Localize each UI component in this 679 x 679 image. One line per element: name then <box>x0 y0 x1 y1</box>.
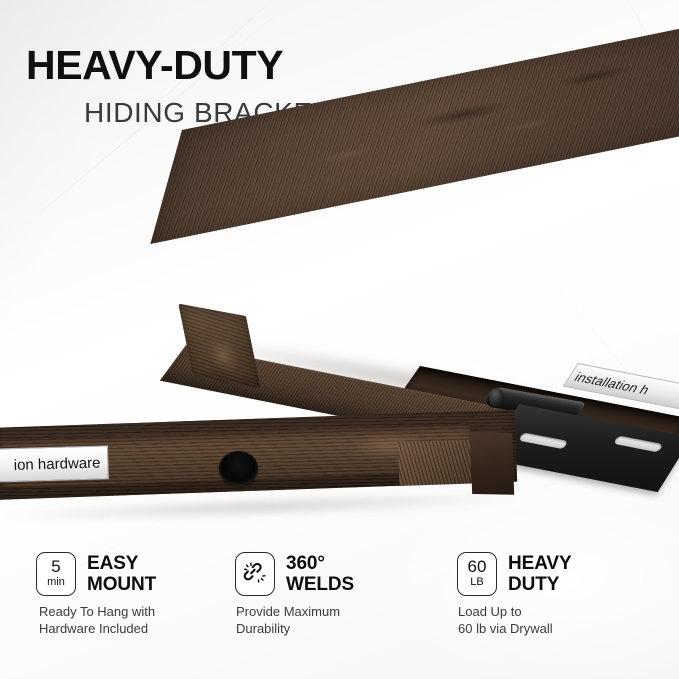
badge-unit: min <box>47 576 65 589</box>
shelf-underside-endcap <box>470 432 514 495</box>
feature-title: EASY MOUNT <box>87 553 156 596</box>
feature-easy-mount: 5 min EASY MOUNT Ready To Hang with Hard… <box>0 552 232 637</box>
label-text: installation h <box>572 369 653 397</box>
feature-description: Provide Maximum Durability <box>236 603 354 637</box>
feature-text: EASY MOUNT Ready To Hang with Hardware I… <box>87 552 156 637</box>
feature-360-welds: 360° WELDS Provide Maximum Durability <box>232 552 444 637</box>
feature-text: 360° WELDS Provide Maximum Durability <box>286 552 354 637</box>
feature-title: 360° WELDS <box>286 553 354 596</box>
shelf-underside-endgrain <box>398 439 471 485</box>
installation-hardware-label-bottom: ion hardware <box>0 445 109 483</box>
bracket-mounting-hole <box>219 451 258 486</box>
badge-unit: LB <box>470 576 483 589</box>
feature-row: 5 min EASY MOUNT Ready To Hang with Hard… <box>0 552 679 637</box>
product-infographic: HEAVY-DUTY HIDING BRACKET/ACCESSORY inst… <box>0 0 679 679</box>
shelf-hero-image: installation h <box>0 120 679 370</box>
bracket-screw-slot <box>613 436 663 453</box>
badge-value: 5 <box>51 558 60 575</box>
feature-description: Ready To Hang with Hardware Included <box>39 603 156 637</box>
chain-link-icon <box>235 552 275 596</box>
feature-text: HEAVY DUTY Load Up to 60 lb via Drywall <box>508 552 572 637</box>
feature-description: Load Up to 60 lb via Drywall <box>458 603 572 637</box>
label-text: ion hardware <box>14 454 101 473</box>
feature-title: HEAVY DUTY <box>508 553 572 596</box>
feature-heavy-duty: 60 LB HEAVY DUTY Load Up to 60 lb via Dr… <box>444 552 679 637</box>
weight-badge-icon: 60 LB <box>457 552 497 596</box>
badge-value: 60 <box>468 558 487 575</box>
timer-badge-icon: 5 min <box>36 552 76 596</box>
page-title: HEAVY-DUTY <box>26 45 283 86</box>
